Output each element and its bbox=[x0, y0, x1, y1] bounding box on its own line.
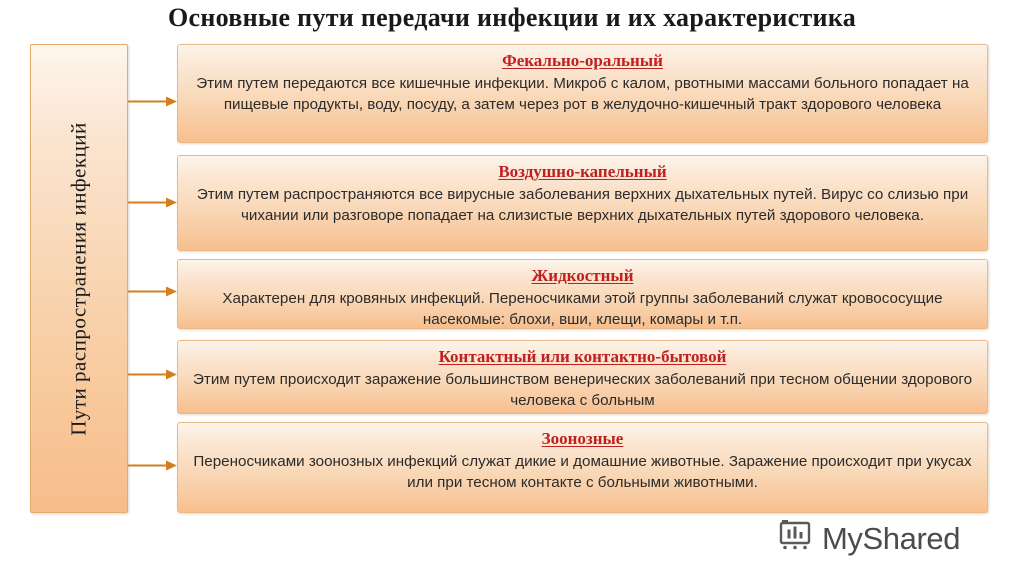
transmission-route-description: Этим путем распространяются все вирусные… bbox=[192, 185, 973, 226]
myshared-logo-text: MyShared bbox=[822, 523, 960, 554]
arrow-connector-icon bbox=[128, 195, 177, 206]
myshared-watermark: MyShared bbox=[779, 516, 960, 560]
transmission-route-heading: Жидкостный bbox=[192, 265, 973, 288]
page-title: Основные пути передачи инфекции и их хар… bbox=[0, 3, 1024, 33]
transmission-route-box: Зоонозные Переносчиками зоонозных инфекц… bbox=[177, 422, 988, 513]
transmission-route-box: Воздушно-капельный Этим путем распростра… bbox=[177, 155, 988, 251]
slide-canvas: Основные пути передачи инфекции и их хар… bbox=[0, 0, 1024, 574]
transmission-route-box: Контактный или контактно-бытовой Этим пу… bbox=[177, 340, 988, 414]
transmission-route-description: Этим путем передаются все кишечные инфек… bbox=[192, 74, 973, 115]
transmission-route-heading: Воздушно-капельный bbox=[192, 161, 973, 184]
transmission-route-box: Жидкостный Характерен для кровяных инфек… bbox=[177, 259, 988, 329]
transmission-route-description: Характерен для кровяных инфекций. Перено… bbox=[192, 289, 973, 330]
arrow-connector-icon bbox=[128, 458, 177, 469]
left-category-panel-label: Пути распространения инфекций bbox=[67, 122, 92, 436]
transmission-route-description: Этим путем происходит заражение большинс… bbox=[192, 370, 973, 411]
arrow-connector-icon bbox=[128, 94, 177, 105]
arrow-connector-icon bbox=[128, 367, 177, 378]
transmission-route-heading: Фекально-оральный bbox=[192, 50, 973, 73]
transmission-route-heading: Контактный или контактно-бытовой bbox=[192, 346, 973, 369]
arrow-connector-icon bbox=[128, 284, 177, 295]
presentation-board-icon bbox=[779, 520, 813, 557]
left-category-panel: Пути распространения инфекций bbox=[30, 44, 128, 513]
transmission-route-heading: Зоонозные bbox=[192, 428, 973, 451]
transmission-route-box: Фекально-оральный Этим путем передаются … bbox=[177, 44, 988, 143]
transmission-route-description: Переносчиками зоонозных инфекций служат … bbox=[192, 452, 973, 493]
